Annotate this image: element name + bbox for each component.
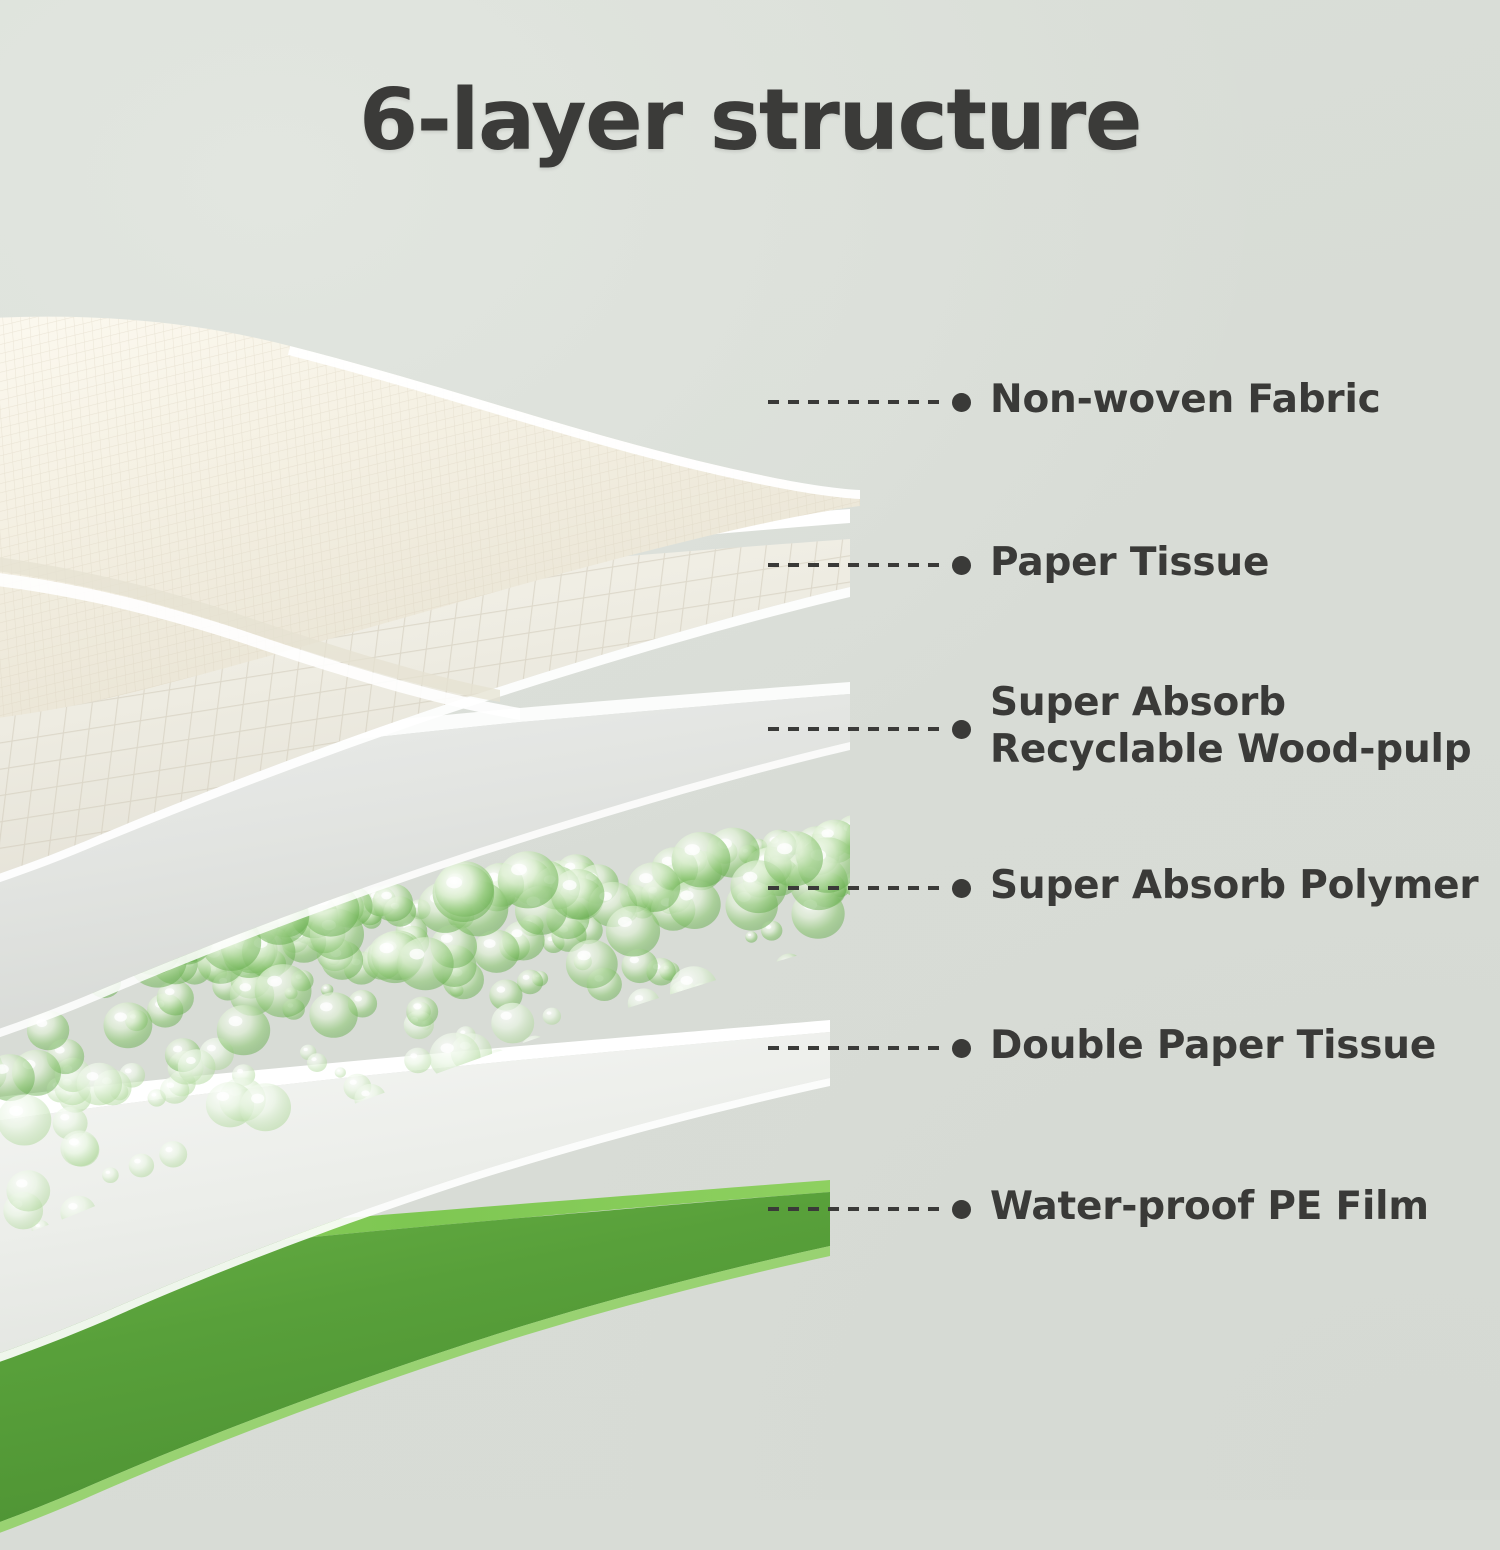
layer-label-non-woven-fabric: Non-woven Fabric <box>990 376 1381 423</box>
leader-dot <box>952 1039 971 1058</box>
leader-line <box>768 727 944 731</box>
leader-dot <box>952 1200 971 1219</box>
layer-label-water-proof-pe-film: Water-proof PE Film <box>990 1183 1429 1230</box>
layer-label-super-absorb-recyclable-wood-pulp-line1: Super Absorb <box>990 679 1286 726</box>
leader-dot <box>952 720 971 739</box>
layer-stack-illustration <box>0 250 880 1510</box>
leader-dot <box>952 556 971 575</box>
leader-dot <box>952 879 971 898</box>
page-title: 6-layer structure <box>0 78 1500 163</box>
illustration-background: 6-layer structure <box>0 0 1500 1500</box>
leader-line <box>768 1046 944 1050</box>
layer-label-double-paper-tissue: Double Paper Tissue <box>990 1022 1436 1069</box>
leader-line <box>768 400 944 404</box>
leader-line <box>768 563 944 567</box>
leader-line <box>768 886 944 890</box>
layer-label-super-absorb-polymer: Super Absorb Polymer <box>990 862 1478 909</box>
layer-label-paper-tissue: Paper Tissue <box>990 539 1269 586</box>
layer-label-super-absorb-recyclable-wood-pulp-line2: Recyclable Wood-pulp <box>990 726 1471 773</box>
leader-line <box>768 1207 944 1211</box>
leader-dot <box>952 393 971 412</box>
layer-sheet-non-woven-fabric <box>0 250 820 550</box>
